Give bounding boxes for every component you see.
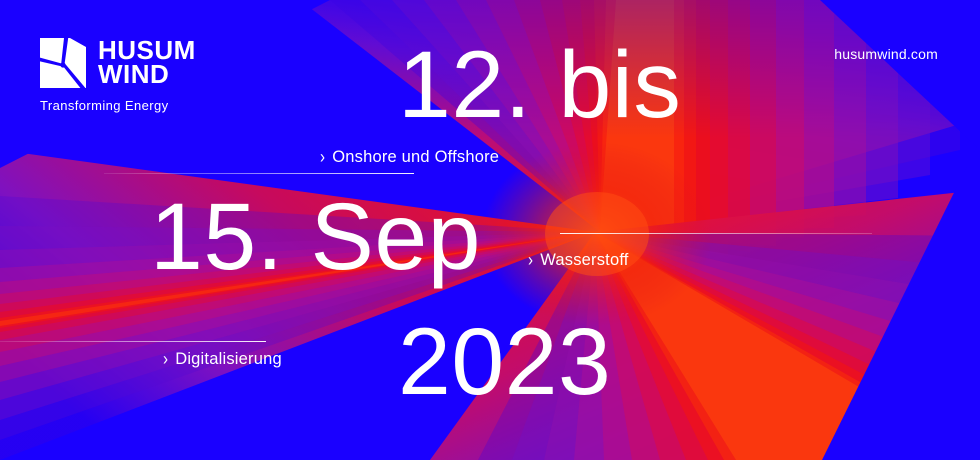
logo-tagline: Transforming Energy (40, 98, 196, 113)
divider-digitalisierung (0, 341, 266, 342)
divider-onshore (104, 173, 414, 174)
husum-wind-turbine-mark-icon (40, 38, 86, 88)
logo-line-2: WIND (98, 62, 196, 86)
logo-row: HUSUM WIND (40, 38, 196, 88)
headline-date-line-1: 12. bis (398, 38, 681, 133)
topic-wasserstoff[interactable]: ›Wasserstoff (528, 251, 629, 270)
topic-label: Wasserstoff (540, 251, 628, 269)
chevron-right-icon: › (320, 147, 325, 168)
topic-label: Onshore und Offshore (332, 148, 499, 166)
husum-wind-event-banner: HUSUM WIND Transforming Energy husumwind… (0, 0, 980, 460)
topic-digitalisierung[interactable]: ›Digitalisierung (163, 350, 282, 369)
topic-label: Digitalisierung (175, 350, 282, 368)
husum-wind-logo[interactable]: HUSUM WIND Transforming Energy (40, 38, 196, 113)
topic-onshore-und-offshore[interactable]: ›Onshore und Offshore (320, 148, 499, 167)
headline-year: 2023 (398, 315, 611, 410)
logo-wordmark: HUSUM WIND (98, 38, 196, 87)
chevron-right-icon: › (163, 349, 168, 370)
chevron-right-icon: › (528, 250, 533, 271)
headline-date-line-2: 15. Sep (150, 190, 481, 285)
divider-wasserstoff (560, 233, 872, 234)
website-url[interactable]: husumwind.com (834, 46, 938, 62)
